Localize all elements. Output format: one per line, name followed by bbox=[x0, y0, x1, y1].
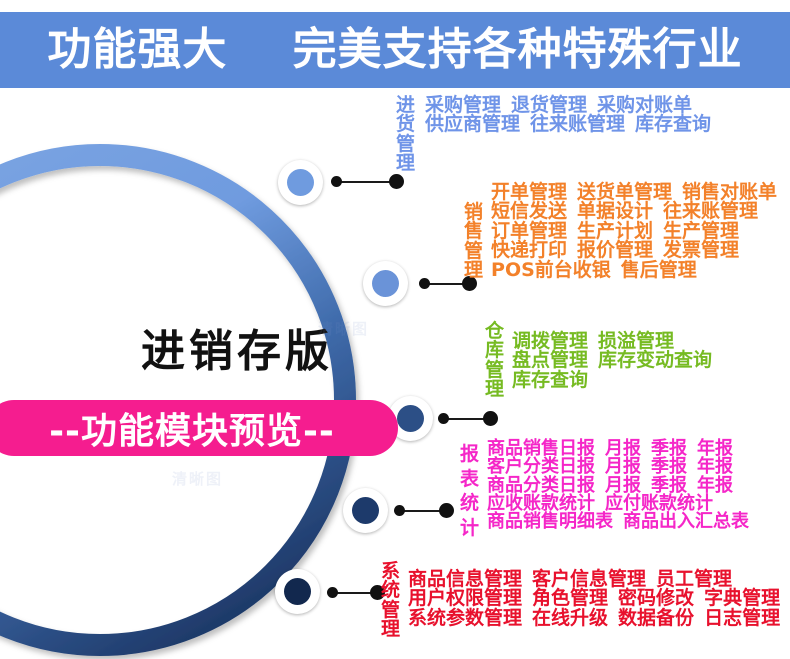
leader-dot-small-system bbox=[327, 587, 338, 598]
module-item[interactable]: 数据备份 bbox=[618, 607, 694, 629]
module-group-label-report: 报表统计 bbox=[460, 442, 479, 541]
module-rows-report: 商品销售日报月报季报年报客户分类日报月报季报年报商品分类日报月报季报年报应收账款… bbox=[487, 440, 749, 532]
module-item[interactable]: 供应商管理 bbox=[425, 113, 520, 135]
leader-dot-small-report bbox=[394, 505, 405, 516]
module-row: 系统参数管理在线升级数据备份日志管理 bbox=[408, 609, 780, 628]
module-item[interactable]: 库存变动查询 bbox=[598, 349, 712, 371]
leader-dot-large-report bbox=[439, 503, 454, 518]
header-banner: 功能强大 完美支持各种特殊行业 bbox=[0, 12, 790, 88]
product-title: 进销存版 bbox=[72, 330, 402, 374]
module-group-label-purchase: 进货管理 bbox=[396, 96, 415, 174]
module-item[interactable]: 往来账管理 bbox=[530, 113, 625, 135]
arc-node-purchase bbox=[278, 160, 323, 205]
module-item[interactable]: 在线升级 bbox=[532, 607, 608, 629]
module-item[interactable]: 快递打印 bbox=[491, 239, 567, 261]
module-group-label-char: 计 bbox=[460, 516, 479, 541]
module-group-label-char: 货 bbox=[396, 115, 415, 134]
subtitle-text: --功能模块预览-- bbox=[0, 400, 398, 456]
module-group-label-char: 表 bbox=[460, 467, 479, 492]
leader-dot-small-purchase bbox=[331, 176, 342, 187]
arc-node-core bbox=[284, 578, 311, 605]
header-banner-text: 功能强大 完美支持各种特殊行业 bbox=[47, 28, 742, 72]
module-group-label-sales: 销售管理 bbox=[464, 203, 483, 281]
module-rows-system: 商品信息管理客户信息管理员工管理用户权限管理角色管理密码修改字典管理系统参数管理… bbox=[408, 570, 780, 628]
module-group-report: 报表统计 商品销售日报月报季报年报客户分类日报月报季报年报商品分类日报月报季报年… bbox=[460, 442, 749, 541]
module-rows-purchase: 采购管理退货管理采购对账单供应商管理往来账管理库存查询 bbox=[425, 96, 711, 135]
module-group-label-char: 库 bbox=[485, 341, 504, 360]
module-group-system: 系统管理 商品信息管理客户信息管理员工管理用户权限管理角色管理密码修改字典管理系… bbox=[381, 562, 780, 640]
module-item[interactable]: 日志管理 bbox=[704, 607, 780, 629]
module-group-label-char: 理 bbox=[485, 380, 504, 399]
module-group-label-char: 理 bbox=[464, 261, 483, 280]
module-group-label-char: 理 bbox=[396, 154, 415, 173]
leader-dot-large-warehouse bbox=[483, 411, 498, 426]
arc-node-core bbox=[287, 169, 314, 196]
module-item[interactable]: 售后管理 bbox=[621, 259, 697, 281]
module-item[interactable]: 系统参数管理 bbox=[408, 607, 522, 629]
module-group-label-char: 统 bbox=[381, 581, 400, 600]
leader-line-purchase bbox=[336, 181, 396, 183]
module-item[interactable]: POS前台收银 bbox=[491, 259, 611, 281]
module-item[interactable]: 商品出入汇总表 bbox=[623, 511, 749, 532]
arc-node-report bbox=[343, 488, 388, 533]
module-row: 库存查询 bbox=[512, 371, 712, 390]
module-group-label-char: 售 bbox=[464, 222, 483, 241]
module-row: 商品销售明细表商品出入汇总表 bbox=[487, 513, 749, 531]
module-rows-warehouse: 调拨管理损溢管理盘点管理库存变动查询库存查询 bbox=[512, 332, 712, 390]
module-group-sales: 销售管理 开单管理送货单管理销售对账单短信发送单据设计往来账管理订单管理生产计划… bbox=[464, 203, 777, 281]
leader-dot-small-sales bbox=[419, 278, 430, 289]
circle-ring-graphic bbox=[0, 120, 430, 659]
module-group-purchase: 进货管理 采购管理退货管理采购对账单供应商管理往来账管理库存查询 bbox=[396, 96, 711, 174]
arc-node-sales bbox=[363, 261, 408, 306]
leader-dot-small-warehouse bbox=[438, 413, 449, 424]
module-row: 供应商管理往来账管理库存查询 bbox=[425, 115, 711, 134]
module-group-label-char: 理 bbox=[381, 620, 400, 639]
arc-node-system bbox=[275, 569, 320, 614]
module-group-label-system: 系统管理 bbox=[381, 562, 400, 640]
module-rows-sales: 开单管理送货单管理销售对账单短信发送单据设计往来账管理订单管理生产计划生产管理快… bbox=[491, 183, 777, 280]
arc-node-core bbox=[352, 497, 379, 524]
module-group-label-char: 报 bbox=[460, 442, 479, 467]
module-item[interactable]: 商品销售明细表 bbox=[487, 511, 613, 532]
arc-node-core bbox=[397, 405, 424, 432]
module-item[interactable]: 库存查询 bbox=[512, 369, 588, 391]
module-item[interactable]: 库存查询 bbox=[635, 113, 711, 135]
arc-node-core bbox=[372, 270, 399, 297]
module-group-label-char: 统 bbox=[460, 491, 479, 516]
module-row: POS前台收银售后管理 bbox=[491, 261, 777, 280]
module-group-warehouse: 仓库管理 调拨管理损溢管理盘点管理库存变动查询库存查询 bbox=[485, 322, 712, 400]
poster-canvas: 功能强大 完美支持各种特殊行业 bbox=[0, 0, 790, 659]
leader-dot-large-purchase bbox=[389, 174, 404, 189]
module-group-label-warehouse: 仓库管理 bbox=[485, 322, 504, 400]
